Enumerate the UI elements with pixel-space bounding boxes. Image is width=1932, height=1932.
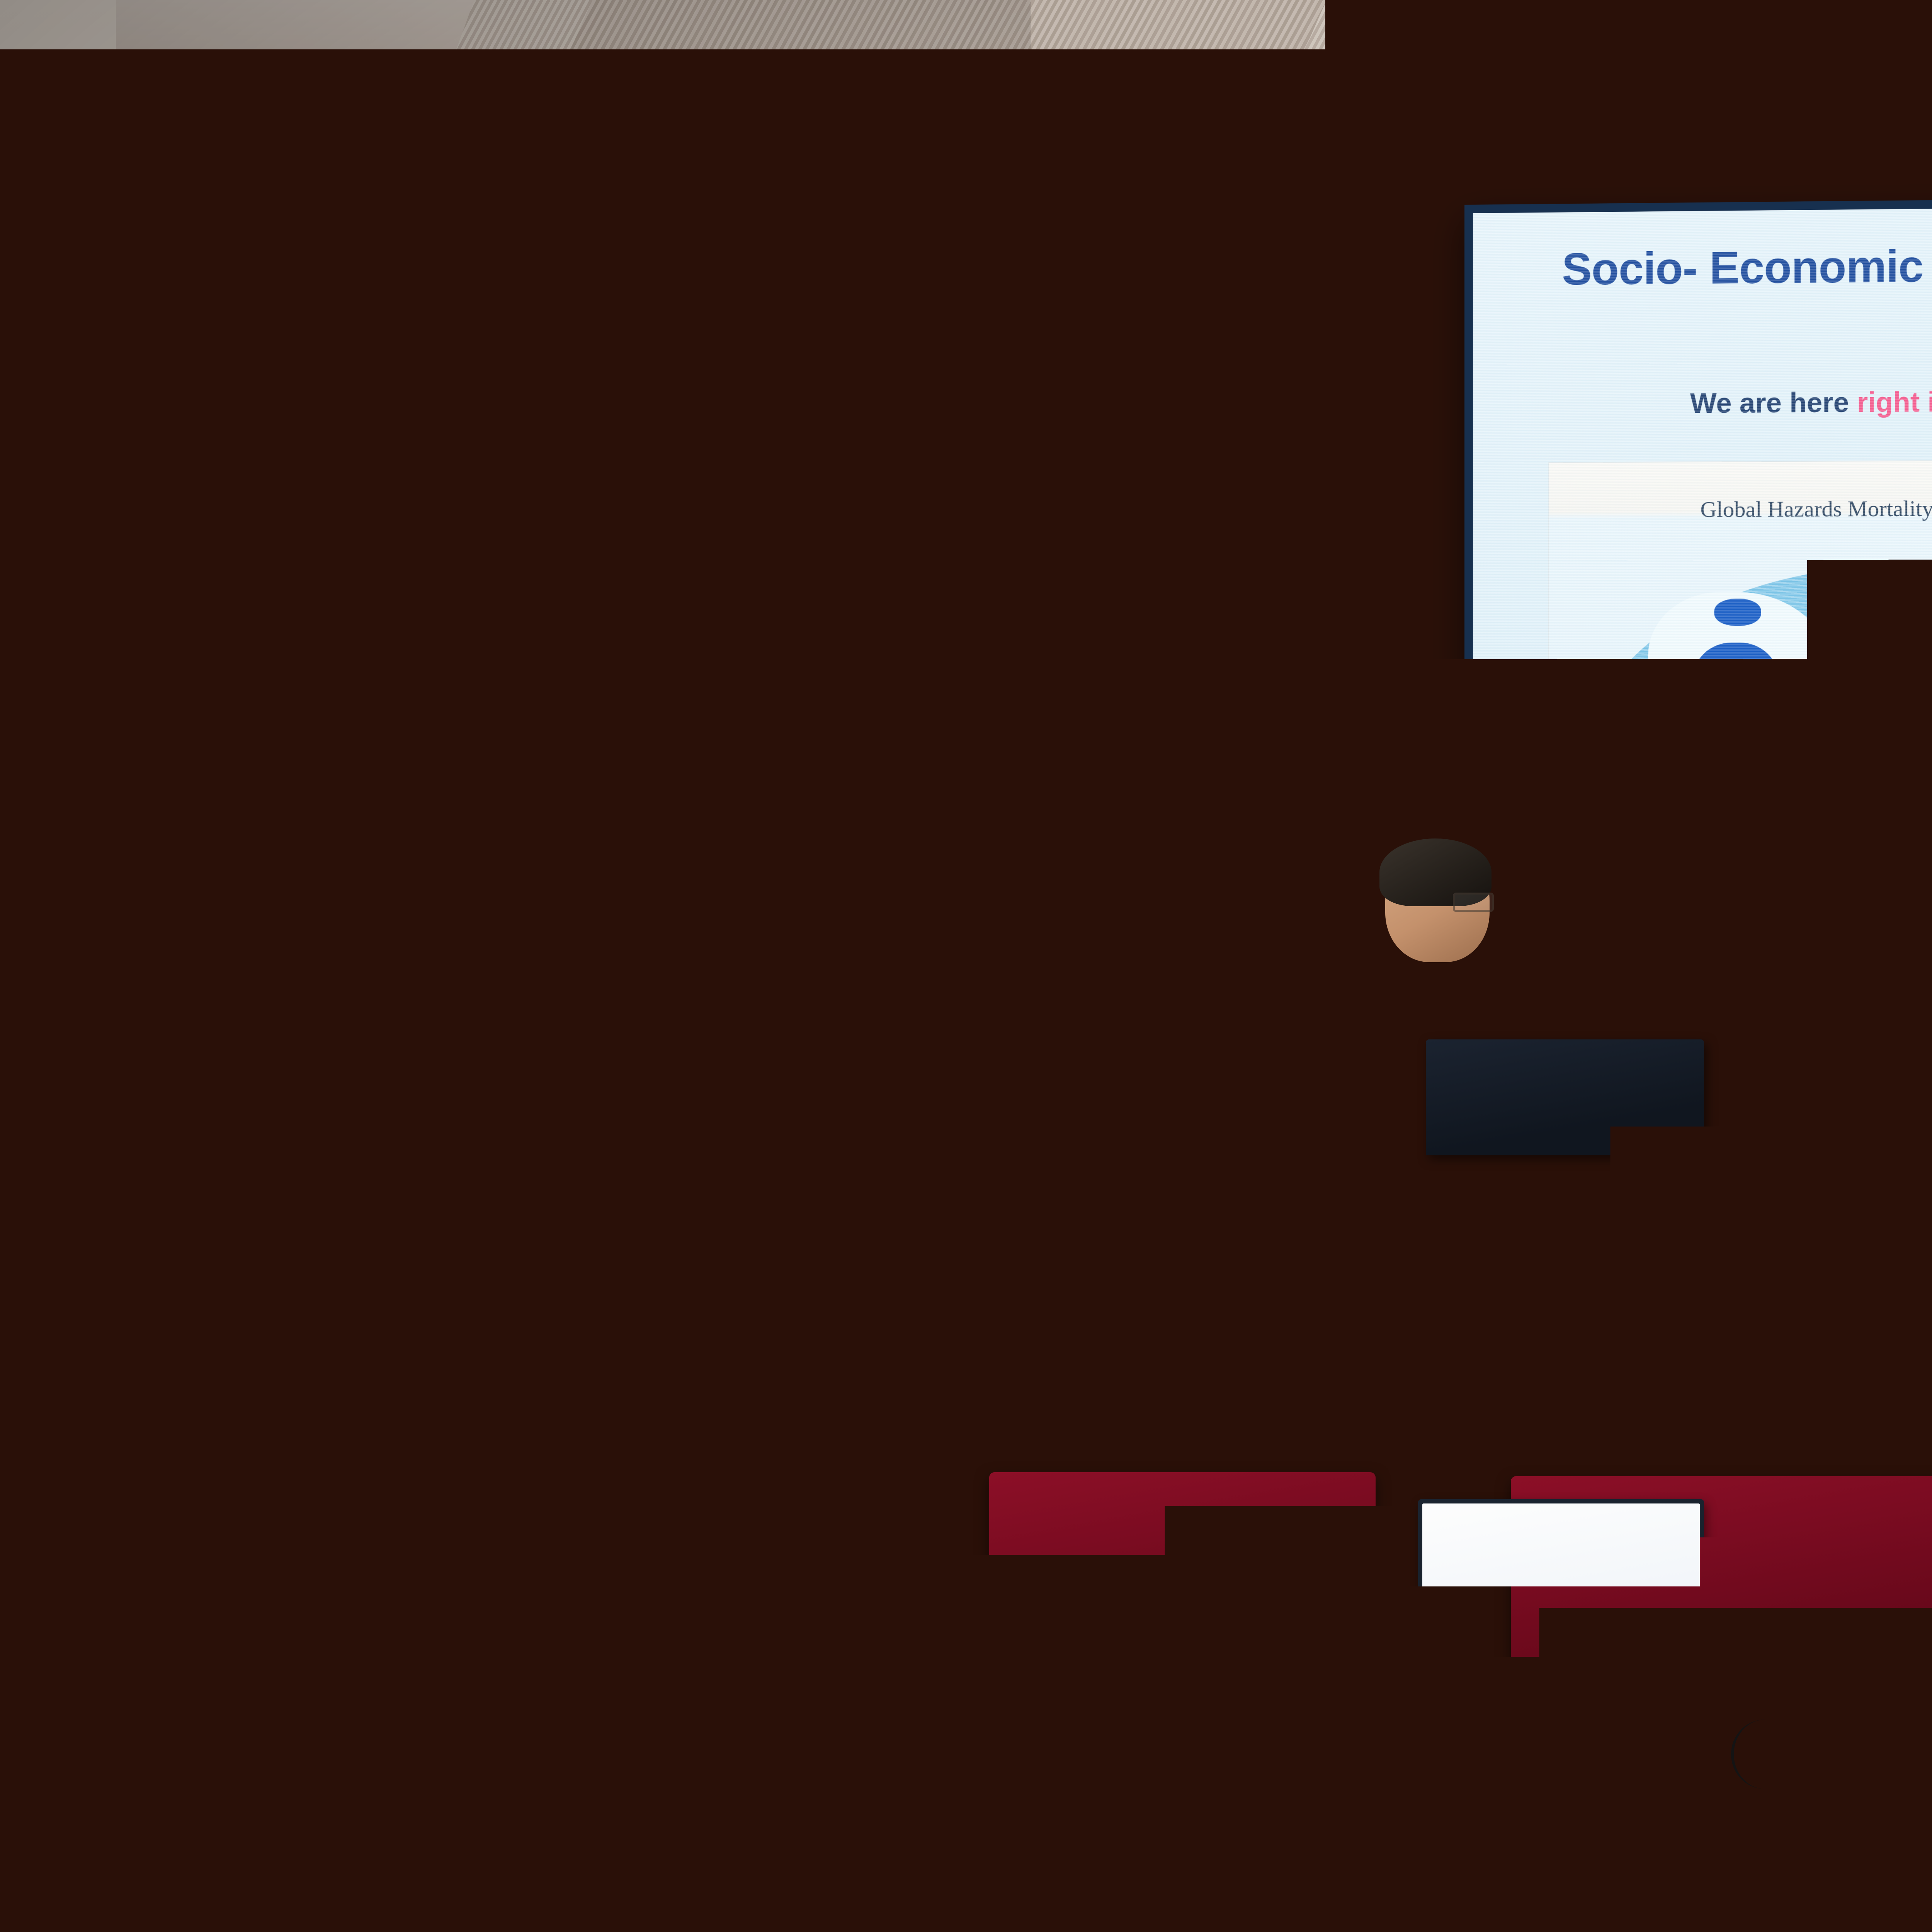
slide-title: Socio- Economic Impact of Disasters: [1562, 236, 1932, 295]
legend-swatch-yellow: [1667, 946, 1696, 960]
slide-subtitle: We are here right in the hotspot!: [1690, 385, 1932, 419]
legend-title: All-Hazard Mortality: [1655, 901, 1760, 911]
water-bottle-5[interactable]: [958, 1561, 985, 1648]
legend-swatch-blue: [1667, 928, 1696, 942]
wall-speaker: QSC: [1078, 435, 1204, 632]
laptop-screen: [692, 1406, 827, 1553]
laptop-screen: [1418, 1499, 1704, 1785]
bottle-label: [1111, 1359, 1138, 1383]
wall-outlet: [166, 1461, 205, 1493]
risk-zone-canada: [1714, 599, 1761, 626]
spare-microphone[interactable]: [846, 1310, 927, 1327]
bottle-cap: [901, 1403, 919, 1416]
attendee-head: [1287, 1275, 1495, 1515]
papers-back-left: [978, 1312, 1082, 1339]
legend-label-3: 8th - 10th: [1703, 968, 1739, 975]
legend-row-1: 1st - 4th: [1667, 928, 1761, 942]
hazard-map-card: Global Hazards Mortality Risk Distributi…: [1548, 459, 1932, 1088]
presenter-glasses: [1453, 893, 1494, 912]
legend-label-1: 1st - 4th: [1703, 932, 1735, 938]
risk-zone-na-central: [1693, 643, 1779, 724]
map-title: Global Hazards Mortality Risk Distributi…: [1549, 494, 1932, 523]
citation-journal: Int J Disaster Risk Sci: [1871, 1137, 1932, 1151]
risk-zone-caribbean: [1728, 740, 1765, 753]
water-bottle-1[interactable]: [1111, 1314, 1138, 1401]
bottle-label: [896, 1460, 923, 1484]
bottle-cap: [1865, 1323, 1883, 1337]
laptop-display: [1422, 1503, 1700, 1781]
attendee-head: [1565, 1275, 1739, 1492]
subtitle-part-1: We are here: [1690, 387, 1857, 419]
mouse-led-glow: [1710, 1789, 1736, 1803]
legend-label-2: 5th - 7th: [1703, 950, 1735, 956]
legend-row-3: 8th - 10th: [1667, 964, 1761, 979]
bottle-cap: [963, 1549, 981, 1563]
conference-room-photo: QSC Socio- Economic Impact of Disasters …: [0, 0, 1932, 1932]
speaker-brand-label: QSC: [1127, 519, 1155, 532]
map-legend: All-Hazard Mortality Risk Deciles 1st - …: [1648, 895, 1761, 995]
legend-row-2: 5th - 7th: [1667, 946, 1761, 960]
water-bottle-2[interactable]: [896, 1414, 923, 1501]
subtitle-part-2: right in: [1857, 386, 1932, 418]
world-map-graphic: All-Hazard Mortality Risk Deciles 1st - …: [1565, 550, 1932, 1005]
bottle-label: [1861, 1381, 1888, 1405]
laptop-display: [696, 1411, 823, 1549]
attendee-collar: [1575, 1464, 1729, 1492]
legend-swatch-pink: [1667, 964, 1696, 979]
microphone-head: [1498, 970, 1534, 1010]
laptop-keyboard[interactable]: [1410, 1781, 1716, 1839]
bottle-label: [958, 1607, 985, 1631]
water-bottle-3[interactable]: [1861, 1335, 1888, 1422]
risk-zone-brazil: [1798, 800, 1845, 870]
handout-left: [995, 1715, 1138, 1798]
risk-zone-andes-edge: [1767, 769, 1782, 901]
gaming-mouse[interactable]: [1700, 1776, 1747, 1812]
bottle-cap: [1116, 1302, 1133, 1315]
legend-subtitle: Risk Deciles: [1662, 915, 1760, 924]
mouse-cable: [1731, 1719, 1799, 1789]
